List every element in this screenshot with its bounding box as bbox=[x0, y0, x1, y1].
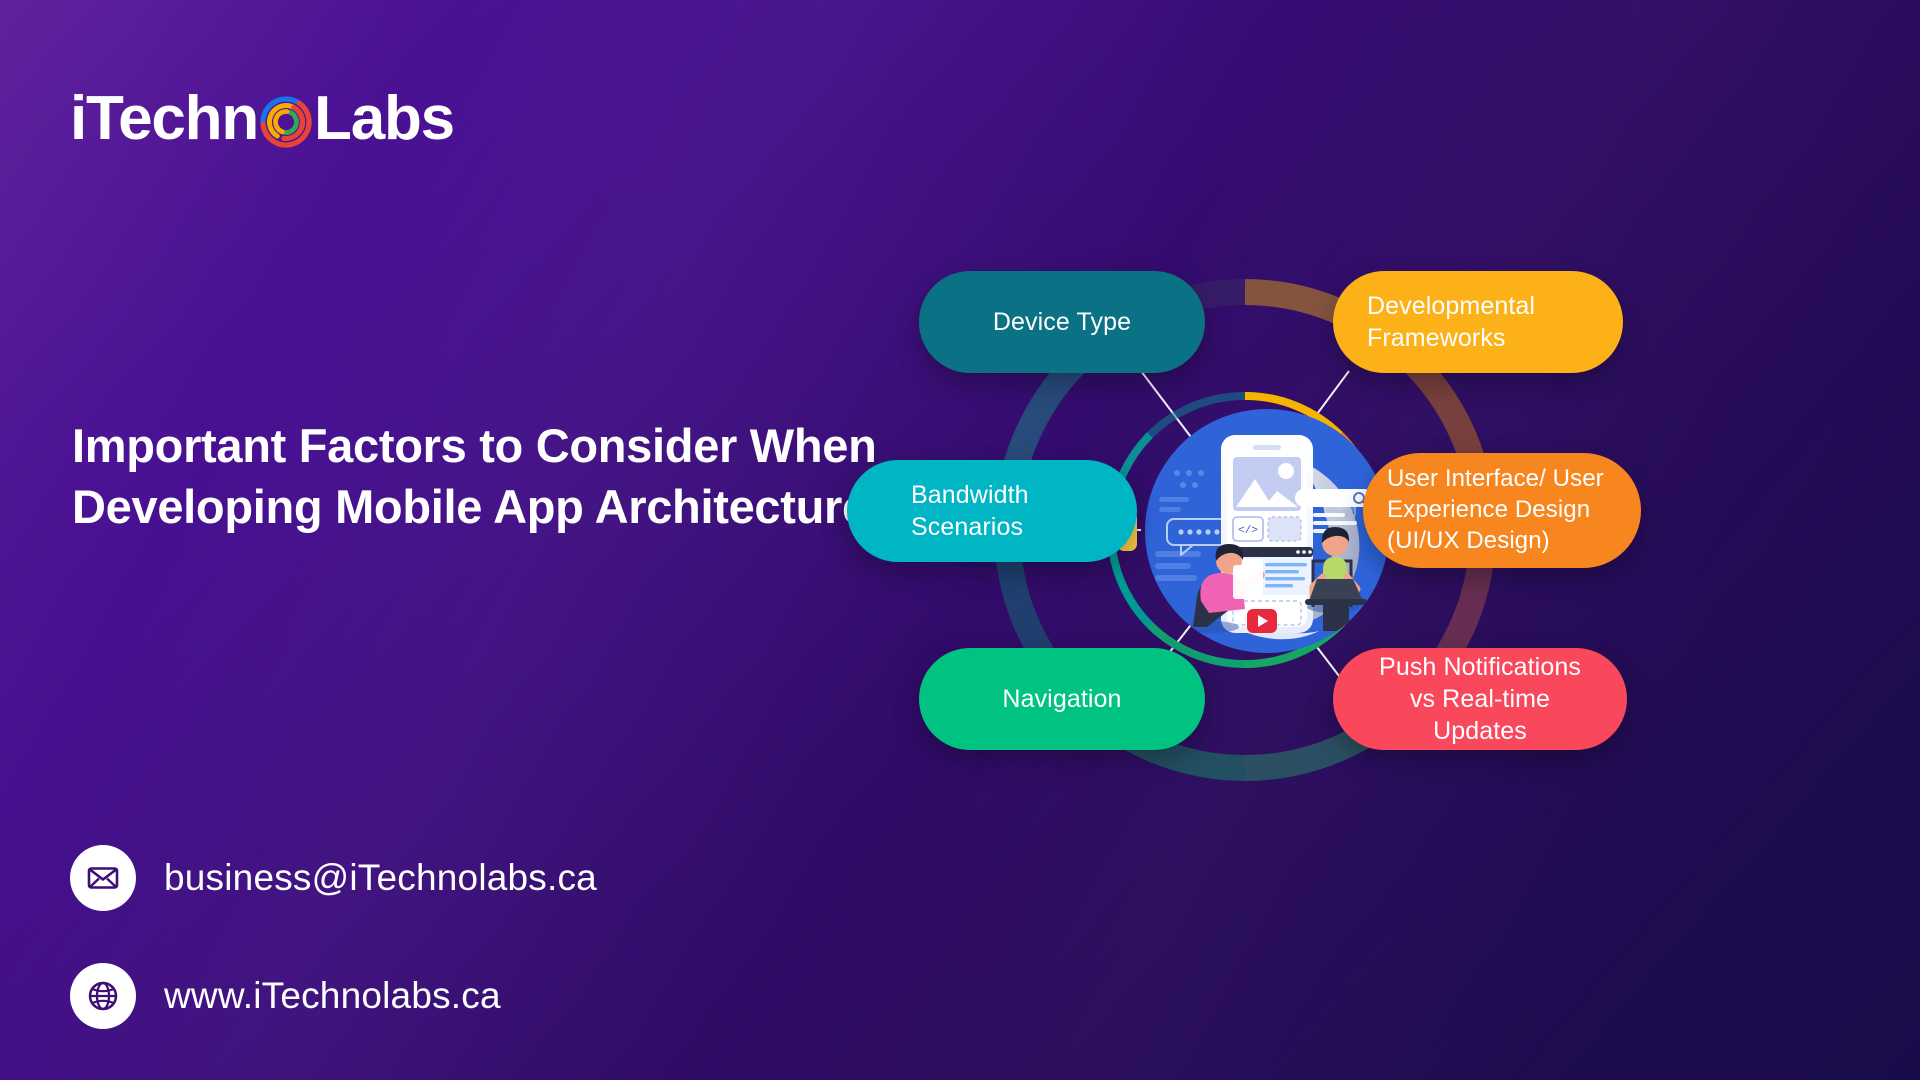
factor-node-navigation[interactable]: Navigation bbox=[919, 648, 1205, 750]
brand-logo: iTechn Labs bbox=[70, 88, 454, 150]
mobile-app-development-illustration: </> bbox=[1137, 401, 1397, 661]
factor-node-push[interactable]: Push Notifications vs Real-time Updates bbox=[1333, 648, 1627, 750]
contact-website-value: www.iTechnolabs.ca bbox=[164, 975, 501, 1017]
contact-email-row[interactable]: business@iTechnolabs.ca bbox=[70, 845, 597, 911]
factor-node-uiux[interactable]: User Interface/ User Experience Design (… bbox=[1363, 453, 1641, 568]
factor-label: Bandwidth Scenarios bbox=[911, 479, 1103, 543]
factor-label: User Interface/ User Experience Design (… bbox=[1387, 464, 1607, 556]
svg-text:</>: </> bbox=[1238, 525, 1258, 537]
globe-icon bbox=[70, 963, 136, 1029]
contact-block: business@iTechnolabs.ca www.iTechnolabs.… bbox=[70, 845, 597, 1029]
factor-label: Developmental Frameworks bbox=[1367, 290, 1589, 354]
factor-node-frameworks[interactable]: Developmental Frameworks bbox=[1333, 271, 1623, 373]
factor-node-bandwidth[interactable]: Bandwidth Scenarios bbox=[847, 460, 1137, 562]
factors-diagram: </> bbox=[945, 245, 1845, 815]
factor-label: Device Type bbox=[953, 306, 1171, 338]
factor-label: Navigation bbox=[953, 683, 1171, 715]
brand-name-part2: Labs bbox=[314, 88, 454, 150]
contact-email-value: business@iTechnolabs.ca bbox=[164, 857, 597, 899]
brand-name-part1: iTechn bbox=[70, 88, 258, 150]
envelope-icon bbox=[70, 845, 136, 911]
multicolor-ring-icon bbox=[260, 96, 312, 148]
factor-label: Push Notifications vs Real-time Updates bbox=[1367, 651, 1593, 747]
page-title: Important Factors to Consider When Devel… bbox=[72, 415, 977, 537]
contact-website-row[interactable]: www.iTechnolabs.ca bbox=[70, 963, 597, 1029]
factor-node-device-type[interactable]: Device Type bbox=[919, 271, 1205, 373]
